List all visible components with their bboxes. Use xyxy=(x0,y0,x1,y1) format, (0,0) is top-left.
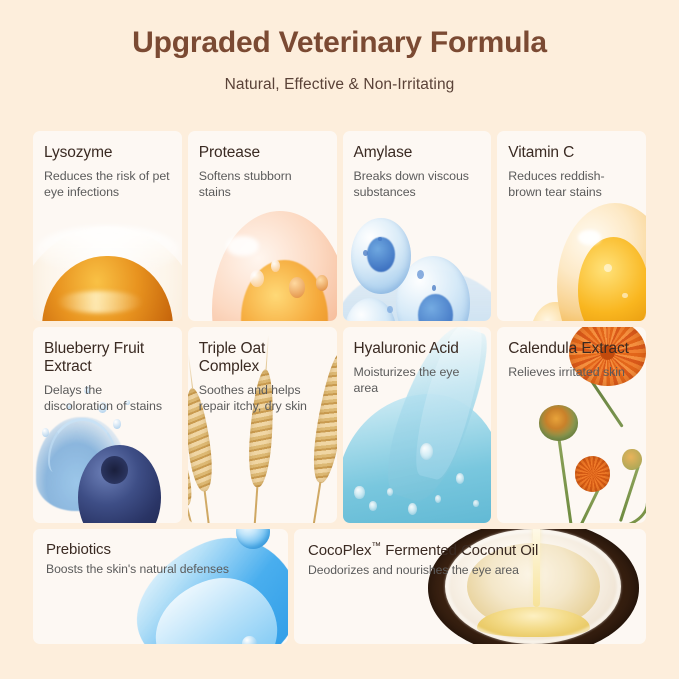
card-title: Vitamin C xyxy=(508,144,635,162)
card-title: Calendula Extract xyxy=(508,340,635,358)
ingredient-card-cocoplex-fermented-coconut-oil[interactable]: CocoPlex™ Fermented Coconut Oil Deodoriz… xyxy=(294,529,646,644)
page-subtitle: Natural, Effective & Non-Irritating xyxy=(0,59,679,94)
ingredient-card-hyaluronic-acid[interactable]: Hyaluronic Acid Moisturizes the eye area xyxy=(343,327,492,523)
ingredient-card-amylase[interactable]: Amylase Breaks down viscous substances xyxy=(343,131,492,321)
card-description: Reduces reddish-brown tear stains xyxy=(508,168,635,201)
card-title: Triple Oat Complex xyxy=(199,340,326,376)
card-title: Blueberry Fruit Extract xyxy=(44,340,171,376)
header: Upgraded Veterinary Formula Natural, Eff… xyxy=(0,0,679,94)
card-title-text: CocoPlex xyxy=(308,542,371,559)
card-title: Lysozyme xyxy=(44,144,171,162)
ingredient-card-calendula-extract[interactable]: Calendula Extract Relieves irritated ski… xyxy=(497,327,646,523)
card-description: Soothes and helps repair itchy, dry skin xyxy=(199,382,326,415)
card-title-text-cont: Fermented Coconut Oil xyxy=(381,542,538,559)
infographic-page: Upgraded Veterinary Formula Natural, Eff… xyxy=(0,0,679,679)
page-title: Upgraded Veterinary Formula xyxy=(0,26,679,59)
ingredient-card-prebiotics[interactable]: Prebiotics Boosts the skin's natural def… xyxy=(33,529,288,644)
ingredient-card-protease[interactable]: Protease Softens stubborn stains xyxy=(188,131,337,321)
ingredient-card-triple-oat-complex[interactable]: Triple Oat Complex Soothes and helps rep… xyxy=(188,327,337,523)
ingredient-card-blueberry-fruit-extract[interactable]: Blueberry Fruit Extract Delays the disco… xyxy=(33,327,182,523)
trademark-symbol: ™ xyxy=(371,541,381,552)
card-title: Amylase xyxy=(354,144,481,162)
card-description: Softens stubborn stains xyxy=(199,168,326,201)
ingredient-row-2: Blueberry Fruit Extract Delays the disco… xyxy=(33,327,646,523)
ingredient-row-3: Prebiotics Boosts the skin's natural def… xyxy=(33,529,646,644)
card-description: Moisturizes the eye area xyxy=(354,364,481,397)
card-description: Relieves irritated skin xyxy=(508,364,635,381)
card-description: Breaks down viscous substances xyxy=(354,168,481,201)
ingredient-grid: Lysozyme Reduces the risk of pet eye inf… xyxy=(33,131,646,644)
card-title: CocoPlex™ Fermented Coconut Oil xyxy=(308,541,635,559)
ingredient-row-1: Lysozyme Reduces the risk of pet eye inf… xyxy=(33,131,646,321)
card-description: Boosts the skin's natural defenses xyxy=(46,561,277,577)
card-title: Prebiotics xyxy=(46,541,277,558)
ingredient-card-lysozyme[interactable]: Lysozyme Reduces the risk of pet eye inf… xyxy=(33,131,182,321)
card-description: Delays the discoloration of stains xyxy=(44,382,171,415)
card-title: Hyaluronic Acid xyxy=(354,340,481,358)
card-title: Protease xyxy=(199,144,326,162)
ingredient-card-vitamin-c[interactable]: Vitamin C Reduces reddish-brown tear sta… xyxy=(497,131,646,321)
card-description: Deodorizes and nourishes the eye area xyxy=(308,562,635,578)
card-description: Reduces the risk of pet eye infections xyxy=(44,168,171,201)
